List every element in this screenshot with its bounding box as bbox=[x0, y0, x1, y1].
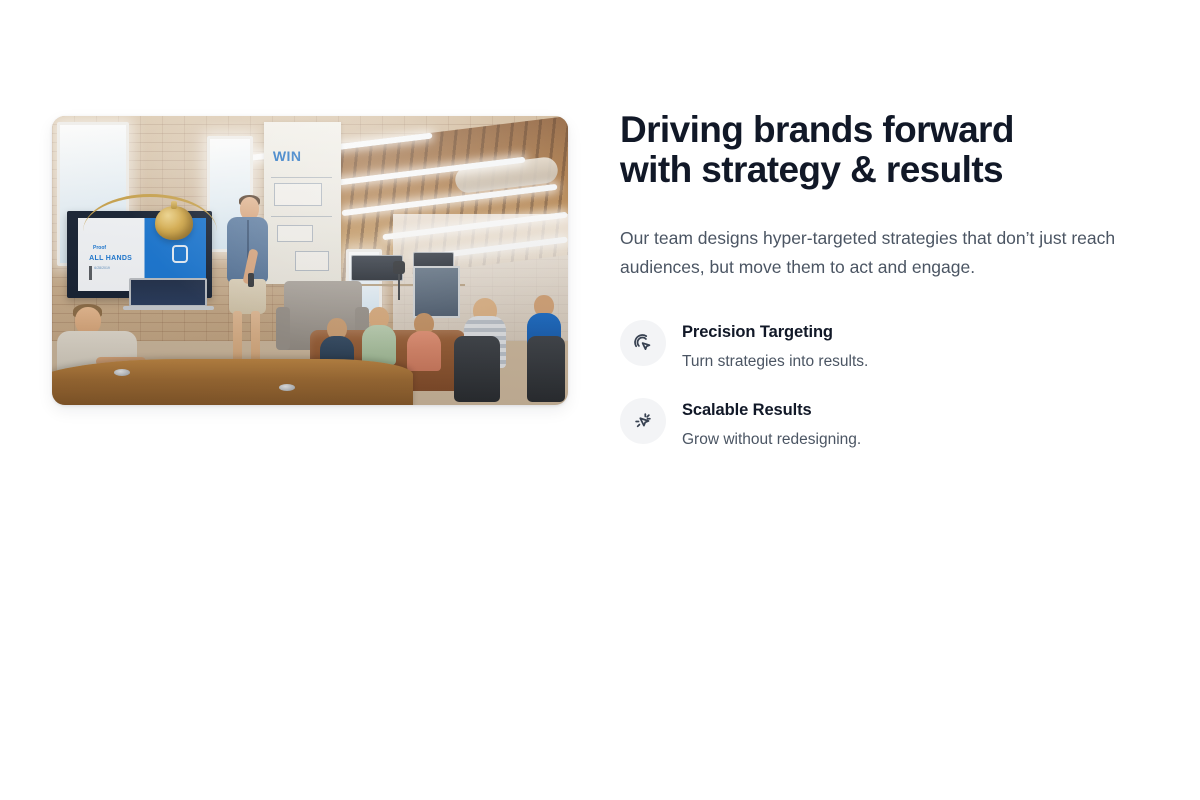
feature-list: Precision Targeting Turn strategies into… bbox=[620, 320, 1148, 450]
office-meeting-photo: WIN Proof ALL HANDS 6/28/2019 bbox=[52, 116, 568, 405]
audience-body bbox=[407, 331, 441, 371]
doorway bbox=[413, 266, 459, 318]
office-chair bbox=[527, 336, 565, 402]
poster-win-text: WIN bbox=[273, 148, 302, 164]
feature-title: Precision Targeting bbox=[682, 321, 868, 343]
feature-text: Precision Targeting Turn strategies into… bbox=[682, 320, 868, 372]
audience-person bbox=[362, 307, 396, 369]
feature-section: WIN Proof ALL HANDS 6/28/2019 bbox=[0, 0, 1200, 450]
audience-person bbox=[408, 313, 440, 371]
slide-date: 6/28/2019 bbox=[94, 266, 110, 270]
feature-description: Turn strategies into results. bbox=[682, 351, 868, 372]
feature-text: Scalable Results Grow without redesignin… bbox=[682, 398, 861, 450]
audience-body bbox=[362, 325, 396, 365]
speaker-on-stand bbox=[393, 261, 405, 274]
feature-item-scalable-results: Scalable Results Grow without redesignin… bbox=[620, 398, 1148, 450]
gold-pendant-lamp bbox=[155, 206, 193, 240]
page-root: WIN Proof ALL HANDS 6/28/2019 bbox=[0, 0, 1200, 800]
cursor-click-icon bbox=[620, 320, 666, 366]
section-subcopy: Our team designs hyper-targeted strategi… bbox=[620, 224, 1140, 282]
laptop bbox=[129, 278, 206, 307]
content-column: Driving brands forward with strategy & r… bbox=[620, 0, 1200, 450]
table-puck bbox=[279, 384, 295, 391]
slide-title: ALL HANDS bbox=[89, 255, 132, 262]
headline-line-1: Driving brands forward bbox=[620, 109, 1014, 150]
headline-line-2: with strategy & results bbox=[620, 150, 1140, 190]
cursor-spark-icon bbox=[620, 398, 666, 444]
feature-title: Scalable Results bbox=[682, 399, 861, 421]
feature-description: Grow without redesigning. bbox=[682, 429, 861, 450]
conference-table bbox=[52, 359, 413, 405]
section-headline: Driving brands forward with strategy & r… bbox=[620, 110, 1140, 190]
presenter-person bbox=[212, 197, 289, 370]
media-column: WIN Proof ALL HANDS 6/28/2019 bbox=[0, 0, 620, 405]
presenter-leg bbox=[251, 311, 260, 363]
office-chair bbox=[454, 336, 500, 402]
photo-scene: WIN Proof ALL HANDS 6/28/2019 bbox=[52, 116, 568, 405]
screen-stand bbox=[89, 266, 92, 280]
microphone bbox=[248, 273, 254, 287]
slide-glyph-icon bbox=[172, 245, 188, 263]
feature-item-precision-targeting: Precision Targeting Turn strategies into… bbox=[620, 320, 1148, 372]
presenter-leg bbox=[233, 311, 242, 363]
